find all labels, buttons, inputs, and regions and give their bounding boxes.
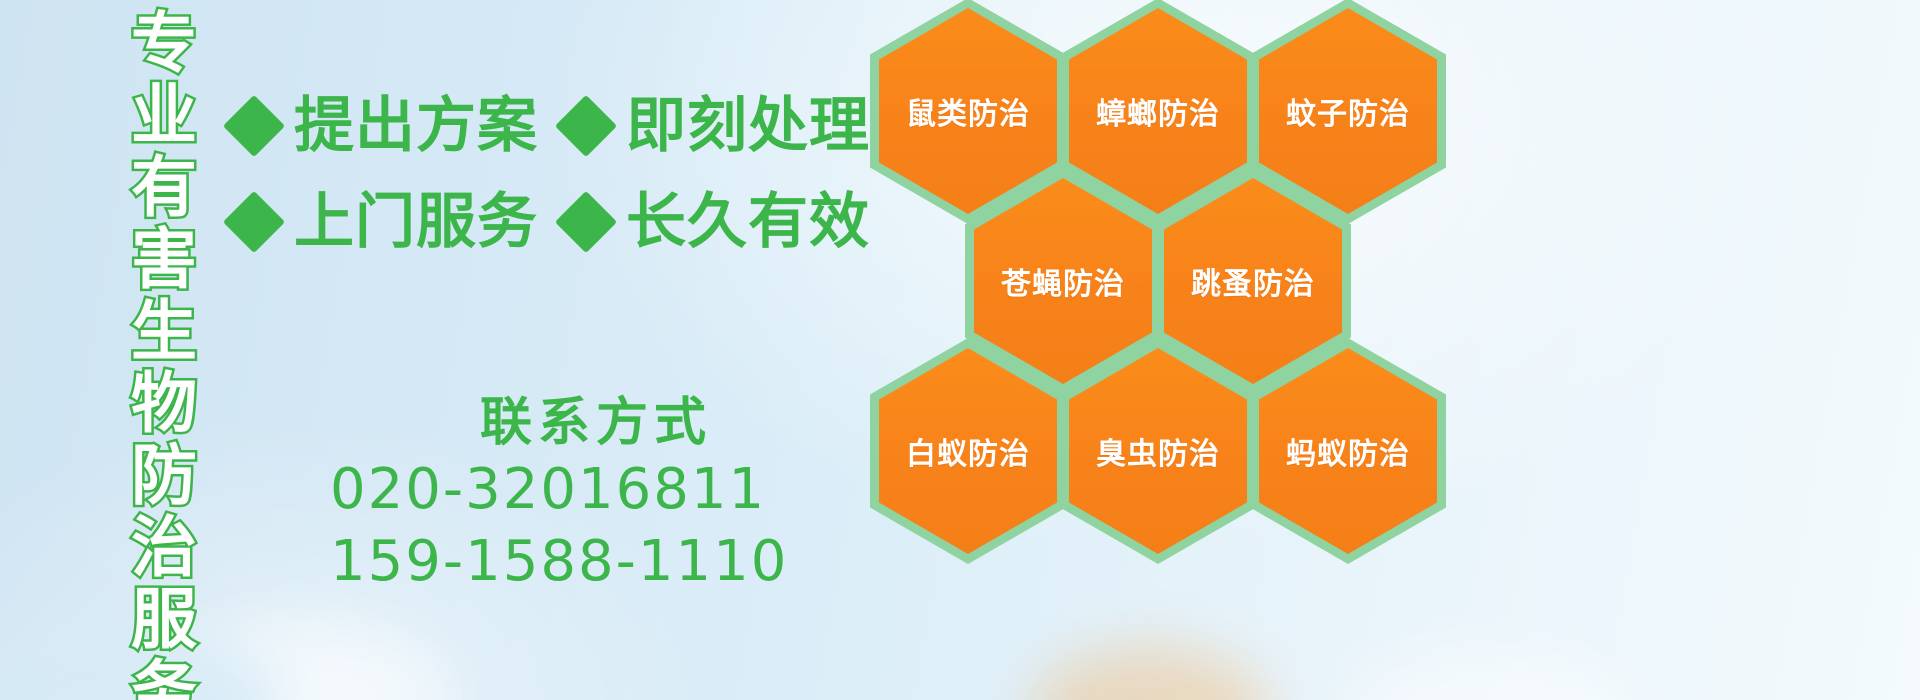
vertical-headline-char: 生	[131, 296, 197, 368]
diamond-icon	[223, 191, 285, 253]
feature-item: 即刻处理	[564, 96, 870, 156]
background-blur-blob	[1030, 646, 1270, 700]
vertical-headline-char: 务	[131, 656, 197, 700]
contact-title: 联系方式	[480, 392, 880, 454]
contact-block: 联系方式 020-32016811 159-1588-1110	[260, 392, 880, 598]
vertical-headline-char: 物	[131, 368, 197, 440]
feature-item: 长久有效	[564, 192, 870, 252]
service-label: 跳蚤防治	[1191, 259, 1315, 303]
service-label: 蚂蚁防治	[1286, 429, 1410, 473]
background-blur-blob	[1340, 646, 1640, 700]
vertical-headline-char: 业	[131, 80, 197, 152]
service-label: 鼠类防治	[906, 89, 1030, 133]
vertical-headline-char: 害	[131, 224, 197, 296]
diamond-icon	[223, 95, 285, 157]
vertical-headline-char: 专	[131, 8, 197, 80]
phone-number-mobile[interactable]: 159-1588-1110	[330, 526, 880, 598]
service-hexagon-grid: 鼠类防治 蟑螂防治 蚊子防治 苍蝇防治 跳蚤防治 白蚁防治 臭虫防治 蚂蚁	[862, 0, 1462, 572]
diamond-icon	[555, 191, 617, 253]
vertical-headline-char: 有	[131, 152, 197, 224]
vertical-headline-char: 服	[131, 584, 197, 656]
feature-row: 提出方案 即刻处理	[232, 78, 872, 174]
service-label: 白蚁防治	[906, 429, 1030, 473]
vertical-headline-char: 防	[131, 440, 197, 512]
diamond-icon	[555, 95, 617, 157]
service-label: 蚊子防治	[1286, 89, 1410, 133]
feature-item: 上门服务	[232, 192, 538, 252]
service-label: 臭虫防治	[1096, 429, 1220, 473]
phone-number-landline[interactable]: 020-32016811	[330, 454, 880, 526]
vertical-headline: 专 业 有 害 生 物 防 治 服 务	[108, 8, 220, 680]
feature-label: 长久有效	[626, 192, 870, 252]
feature-label: 上门服务	[294, 192, 538, 252]
service-label: 蟑螂防治	[1096, 89, 1220, 133]
feature-label: 即刻处理	[626, 96, 870, 156]
feature-list: 提出方案 即刻处理 上门服务 长久有效	[232, 78, 872, 270]
feature-item: 提出方案	[232, 96, 538, 156]
vertical-headline-char: 治	[131, 512, 197, 584]
promo-banner: 专 业 有 害 生 物 防 治 服 务 提出方案 即刻处理 上门服务	[0, 0, 1920, 700]
feature-label: 提出方案	[294, 96, 538, 156]
service-label: 苍蝇防治	[1001, 259, 1125, 303]
feature-row: 上门服务 长久有效	[232, 174, 872, 270]
